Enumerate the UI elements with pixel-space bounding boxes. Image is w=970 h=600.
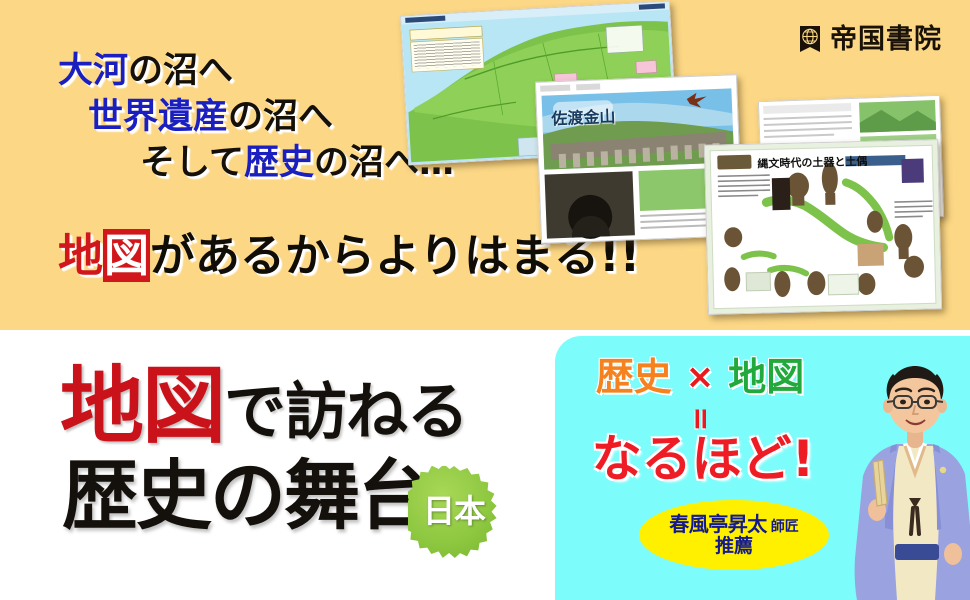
tagline-1-rest: の沼へ — [128, 51, 233, 91]
book-title-line-2: 歴史の舞台 — [62, 460, 432, 532]
japan-edition-badge: 日本 — [408, 466, 500, 558]
tagline-3-highlight: 歴史 — [244, 143, 314, 183]
book-page-jomon-pottery: 縄文時代の土器と土偶 — [704, 139, 942, 315]
punchline-boxed-char: 図 — [103, 229, 150, 282]
equation-right-term: 地図 — [728, 358, 804, 396]
tagline-1-highlight: 大河 — [58, 51, 128, 91]
globe-book-icon — [797, 24, 823, 54]
endorser-name: 春風亭昇太 — [669, 513, 767, 535]
top-tan-band: 帝国書院 大河の沼へ 世界遺産の沼へ そして歴史の沼へ… 地図があるからよりはま… — [0, 0, 970, 330]
book-page-caption-jomon: 縄文時代の土器と土偶 — [757, 153, 867, 172]
endorser-row: 春風亭昇太 師匠 — [669, 513, 799, 536]
tagline-2-highlight: 世界遺産 — [88, 97, 228, 137]
endorsement-oval: 春風亭昇太 師匠 推薦 — [639, 500, 829, 570]
book-advertisement-banner: 帝国書院 大河の沼へ 世界遺産の沼へ そして歴史の沼へ… 地図があるからよりはま… — [0, 0, 970, 600]
equation-left-term: 歴史 — [596, 358, 672, 396]
japan-edition-label: 日本 — [423, 496, 485, 527]
punchline-red-char: 地 — [58, 229, 103, 282]
endorser-honorific: 師匠 — [771, 520, 799, 536]
rakugo-performer-photo — [851, 358, 970, 600]
equation-result: なるほど! — [555, 434, 851, 484]
endorsement-panel: 歴史 × 地図 = なるほど! 春風亭昇太 師匠 推薦 — [555, 336, 970, 600]
book-page-caption-sado: 佐渡金山 — [551, 103, 616, 129]
endorsement-word: 推薦 — [715, 536, 753, 557]
publisher-logo: 帝国書院 — [797, 24, 942, 54]
publisher-name: 帝国書院 — [830, 26, 942, 53]
book-title-de-tazuneru: で訪ねる — [224, 383, 468, 445]
tagline-2-rest: の沼へ — [228, 97, 333, 137]
book-title-chizu: 地図 — [60, 368, 224, 445]
tagline-3-lead: そして — [140, 143, 244, 183]
book-title-line-1: 地図 で訪ねる — [60, 368, 468, 445]
